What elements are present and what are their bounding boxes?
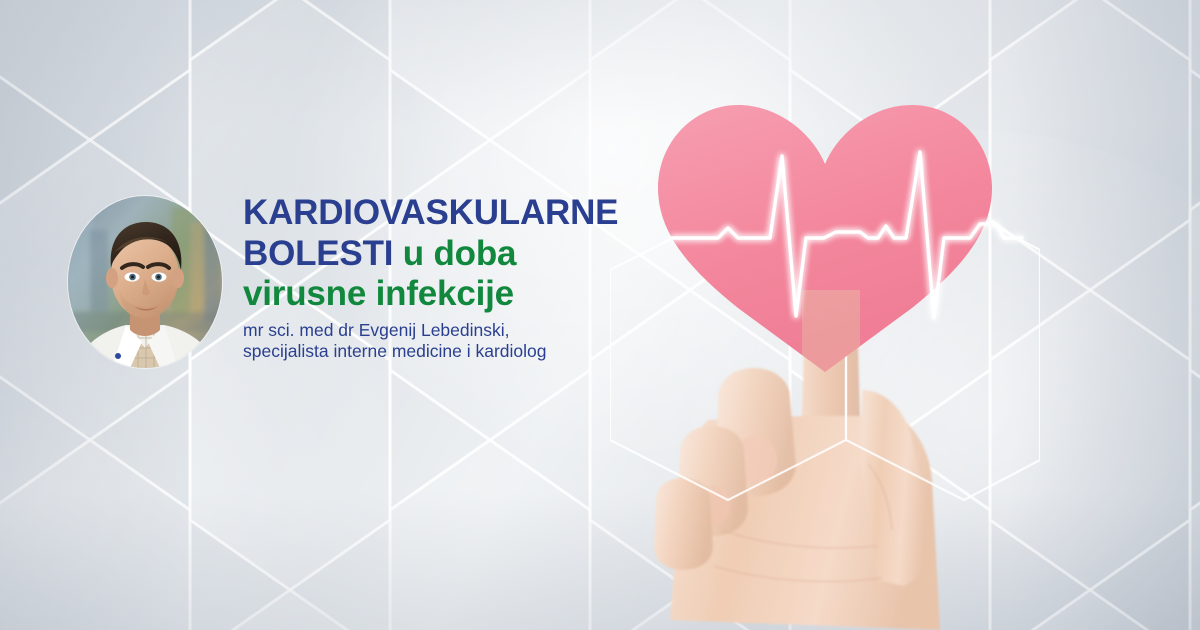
headline-line-2-green: u doba — [403, 234, 517, 273]
headline-line-2-blue: BOLESTI — [243, 234, 403, 273]
avatar — [68, 196, 222, 368]
title-block: KARDIOVASKULARNE BOLESTI u doba virusne … — [243, 193, 683, 363]
speaker-byline: mr sci. med dr Evgenij Lebedinski, speci… — [243, 320, 683, 363]
headline-line-3-green: virusne infekcije — [243, 274, 514, 313]
headline-line-1: KARDIOVASKULARNE — [243, 193, 618, 232]
byline-line-2: specijalista interne medicine i kardiolo… — [243, 341, 547, 361]
page-title: KARDIOVASKULARNE BOLESTI u doba virusne … — [243, 193, 683, 315]
byline-line-1: mr sci. med dr Evgenij Lebedinski, — [243, 320, 510, 340]
promo-banner: KARDIOVASKULARNE BOLESTI u doba virusne … — [0, 0, 1200, 630]
